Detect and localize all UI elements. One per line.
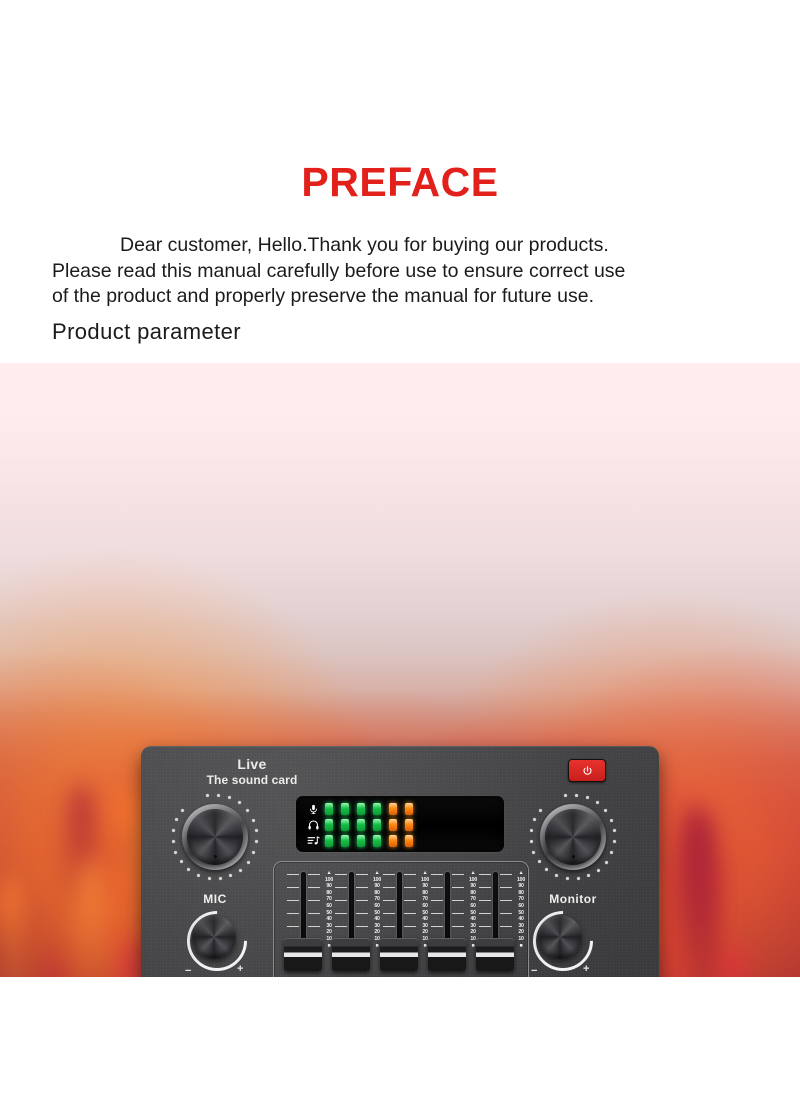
knob-monitor[interactable] <box>529 793 617 881</box>
headphones-icon <box>305 818 322 832</box>
knob-ring-dot <box>197 874 200 877</box>
knob-ring-dot <box>174 851 177 854</box>
led-row-music-list <box>305 835 421 847</box>
page-title: PREFACE <box>0 162 800 203</box>
knob-ring-dot <box>247 861 250 864</box>
brand-label: Live The sound card <box>177 757 327 787</box>
knob-ring-dot <box>604 809 607 812</box>
knob-ring-dot <box>605 861 608 864</box>
led-segment <box>341 819 349 831</box>
knob-ring-dot <box>533 818 536 821</box>
fader-scale-value: 50 <box>514 910 528 917</box>
knob-ring-dot <box>613 829 616 832</box>
knob-music[interactable]: −+ <box>187 911 247 971</box>
fader-cap[interactable] <box>428 938 466 971</box>
fader-scale-value: 100 <box>514 877 528 884</box>
knob-ring-dot <box>530 840 533 843</box>
knob-ring-dot <box>539 809 542 812</box>
fader-echo[interactable]: ▲100908070605040302010■ECHO <box>474 870 516 977</box>
fader-group: ▲100908070605040302010■TREBLE▲1009080706… <box>273 861 529 977</box>
brand-subtitle-text: The sound card <box>177 773 327 787</box>
led-segment <box>341 803 349 815</box>
fader-scale-value: 70 <box>514 896 528 903</box>
led-segment <box>405 803 413 815</box>
fader-scale-value: 30 <box>514 923 528 930</box>
knob-mic[interactable] <box>171 793 259 881</box>
fader-cap[interactable] <box>380 938 418 971</box>
knob-ring-dot <box>587 874 590 877</box>
led-segment <box>405 819 413 831</box>
led-segment <box>389 835 397 847</box>
fader-scale: ▲100908070605040302010■ <box>514 870 528 949</box>
led-segment <box>373 803 381 815</box>
led-segment <box>373 819 381 831</box>
knob-plus-label-record: + <box>583 963 589 975</box>
led-row-headphones <box>305 819 421 831</box>
led-segment <box>405 835 413 847</box>
knob-ring-dot <box>208 877 211 880</box>
knob-ring-dot <box>532 851 535 854</box>
power-icon <box>582 765 593 777</box>
knob-label-mic: MIC <box>171 892 259 906</box>
intro-line-2: Please read this manual carefully before… <box>52 259 754 285</box>
knob-ring-dot <box>252 851 255 854</box>
fader-scale-value: ▲ <box>514 870 528 877</box>
intro-line-1: Dear customer, Hello.Thank you for buyin… <box>52 233 754 259</box>
knob-ring-dot <box>172 840 175 843</box>
knob-ring-dot <box>180 860 183 863</box>
knob-ring-dot <box>255 829 258 832</box>
knob-ring-dot <box>566 877 569 880</box>
led-segment <box>325 835 333 847</box>
knob-minus-label-record: − <box>531 965 537 977</box>
knob-ring-dot <box>238 801 241 804</box>
knob-ring-dot <box>577 877 580 880</box>
knob-ring-dot <box>217 794 220 797</box>
led-segment <box>357 835 365 847</box>
knob-ring-dot <box>181 809 184 812</box>
knob-cap[interactable] <box>187 809 243 865</box>
led-row-microphone <box>305 803 421 815</box>
knob-ring-dot <box>596 801 599 804</box>
led-segment <box>357 819 365 831</box>
fader-scale-value: 90 <box>514 883 528 890</box>
knob-ring-dot <box>545 868 548 871</box>
knob-ring-dot <box>613 840 616 843</box>
led-segment <box>325 819 333 831</box>
intro-paragraph: Dear customer, Hello.Thank you for buyin… <box>0 233 800 344</box>
power-button[interactable] <box>568 759 606 782</box>
knob-ring-dot <box>255 840 258 843</box>
knob-ring-dot <box>610 851 613 854</box>
fader-scale-value: 40 <box>514 916 528 923</box>
fader-baritone[interactable]: ▲100908070605040302010■Baritone <box>330 870 372 977</box>
fader-scale-value: ■ <box>514 943 528 950</box>
led-segment <box>389 819 397 831</box>
knob-ring-dot <box>246 809 249 812</box>
led-segment <box>325 803 333 815</box>
fader-cap[interactable] <box>284 938 322 971</box>
knob-record[interactable]: −+ <box>533 911 593 971</box>
fader-cap[interactable] <box>476 938 514 971</box>
crowd-streak <box>47 951 63 977</box>
knob-ring-dot <box>229 874 232 877</box>
knob-ring-dot <box>586 796 589 799</box>
knob-ring-dot <box>219 877 222 880</box>
knob-ring-dot <box>239 869 242 872</box>
knob-ring-dot <box>187 868 190 871</box>
knob-ring-dot <box>172 829 175 832</box>
knob-ring-dot <box>564 794 567 797</box>
knob-ring-dot <box>575 794 578 797</box>
crowd-streak <box>714 949 752 977</box>
led-segment <box>373 835 381 847</box>
knob-cap[interactable] <box>538 915 582 959</box>
fader-scale-value: 10 <box>514 936 528 943</box>
led-segment <box>357 803 365 815</box>
brand-live-text: Live <box>177 757 327 772</box>
led-level-display <box>296 796 504 852</box>
sound-card-device: Live The sound card MICMonitor−+MUSIC−+R… <box>141 746 659 977</box>
fader-bass[interactable]: ▲100908070605040302010■BASS <box>378 870 420 977</box>
photo-haze-overlay <box>0 363 800 621</box>
fader-wet-dry[interactable]: ▲100908070605040302010■Wet Dry <box>426 870 468 977</box>
knob-label-monitor: Monitor <box>523 892 623 906</box>
knob-ring-dot <box>530 829 533 832</box>
knob-ring-dot <box>538 860 541 863</box>
fader-scale-value: 20 <box>514 929 528 936</box>
knob-cap[interactable] <box>192 915 236 959</box>
knob-ring-dot <box>610 819 613 822</box>
knob-ring-dot <box>597 869 600 872</box>
document-header: PREFACE Dear customer, Hello.Thank you f… <box>0 0 800 344</box>
microphone-icon <box>305 802 322 816</box>
knob-ring-dot <box>252 819 255 822</box>
section-heading-product-parameter: Product parameter <box>52 319 754 345</box>
knob-ring-dot <box>555 874 558 877</box>
knob-minus-label-music: − <box>185 965 191 977</box>
knob-position-marker <box>214 855 217 858</box>
fader-scale-value: 80 <box>514 890 528 897</box>
music-list-icon <box>305 834 322 848</box>
product-photo: Live The sound card MICMonitor−+MUSIC−+R… <box>0 363 800 977</box>
fader-scale-value: 60 <box>514 903 528 910</box>
knob-ring-dot <box>206 794 209 797</box>
knob-cap[interactable] <box>545 809 601 865</box>
knob-ring-dot <box>175 818 178 821</box>
fader-treble[interactable]: ▲100908070605040302010■TREBLE <box>282 870 324 977</box>
intro-line-3: of the product and properly preserve the… <box>52 284 754 310</box>
led-segment <box>341 835 349 847</box>
knob-position-marker <box>572 855 575 858</box>
knob-ring-dot <box>228 796 231 799</box>
fader-cap[interactable] <box>332 938 370 971</box>
knob-plus-label-music: + <box>237 963 243 975</box>
led-segment <box>389 803 397 815</box>
